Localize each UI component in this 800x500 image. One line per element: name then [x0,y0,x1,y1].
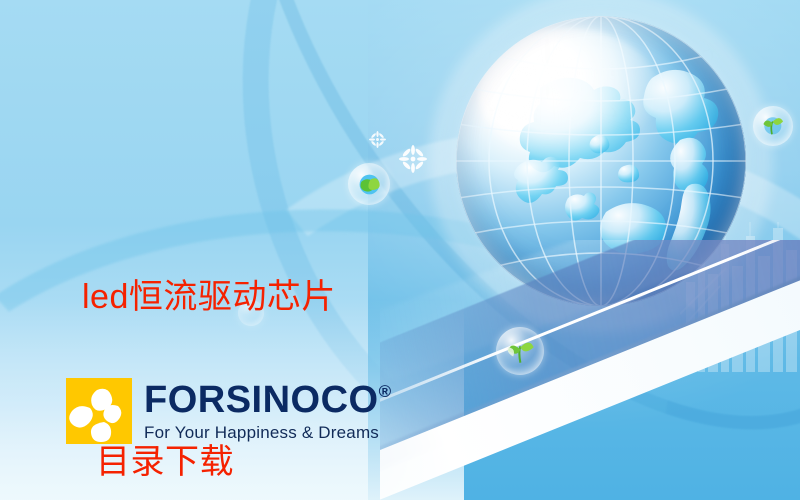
green-leaf-icon [760,113,786,139]
starburst-small-icon [369,131,386,148]
page-title: led恒流驱动芯片 目录下载 [82,160,482,500]
logo-text-block: FORSINOCO® For Your Happiness & Dreams [144,381,392,441]
green-leaf-icon [505,336,536,367]
registered-trademark-icon: ® [379,383,392,400]
four-petal-flower-icon [66,378,132,444]
brand-name-text: FORSINOCO [144,381,379,419]
promo-banner: led恒流驱动芯片 目录下载 FORSINOCO® For Your Happi… [0,0,800,500]
brand-tagline: For Your Happiness & Dreams [144,424,392,441]
bubble-leaf [496,327,544,375]
headline-line-1: led恒流驱动芯片 [82,270,482,325]
brand-name: FORSINOCO® [144,381,392,419]
bubble-sprout [753,106,793,146]
brand-logo[interactable]: FORSINOCO® For Your Happiness & Dreams [66,378,392,444]
